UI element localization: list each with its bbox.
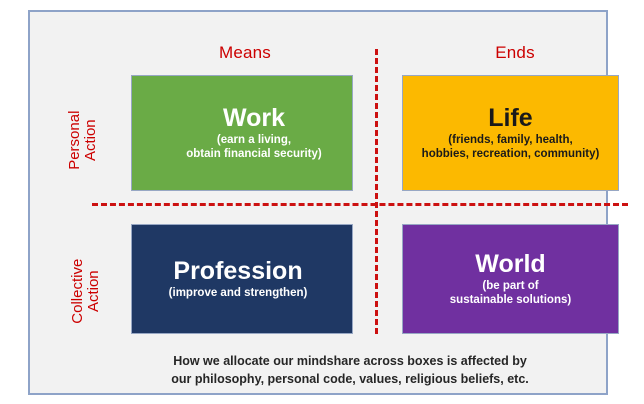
quadrant-profession-title: Profession [173,258,302,284]
row-header-personal-action: Personal Action [67,80,99,200]
horizontal-divider-line [92,203,628,206]
row-header-collective-action: Collective Action [70,226,102,356]
row-header-personal-action-line1: Personal [67,80,83,200]
quadrant-profession-subtitle-line1: (improve and strengthen) [169,286,308,300]
diagram-canvas: Means Ends Personal Action Collective Ac… [0,0,644,404]
column-header-means: Means [180,43,310,63]
quadrant-box-profession[interactable]: Profession (improve and strengthen) [131,224,353,334]
quadrant-work-title: Work [223,105,285,131]
quadrant-work-content: Work (earn a living, obtain financial se… [186,105,321,160]
diagram-frame: Means Ends Personal Action Collective Ac… [28,10,608,395]
quadrant-life-subtitle-line1: (friends, family, health, [448,133,572,147]
quadrant-box-work[interactable]: Work (earn a living, obtain financial se… [131,75,353,191]
quadrant-profession-content: Profession (improve and strengthen) [169,258,308,299]
row-header-collective-action-line1: Collective [70,226,86,356]
quadrant-world-content: World (be part of sustainable solutions) [450,251,571,306]
vertical-divider-line [375,49,378,334]
quadrant-work-subtitle-line1: (earn a living, [217,133,291,147]
quadrant-life-content: Life (friends, family, health, hobbies, … [422,105,600,160]
diagram-footnote-line2: our philosophy, personal code, values, r… [70,370,630,388]
quadrant-work-subtitle-line2: obtain financial security) [186,147,321,161]
row-header-personal-action-line2: Action [83,80,99,200]
quadrant-life-title: Life [488,105,532,131]
quadrant-life-subtitle-line2: hobbies, recreation, community) [422,147,600,161]
row-header-collective-action-line2: Action [86,226,102,356]
diagram-footnote: How we allocate our mindshare across box… [70,352,630,388]
quadrant-box-life[interactable]: Life (friends, family, health, hobbies, … [402,75,619,191]
quadrant-world-subtitle-line1: (be part of [482,279,538,293]
column-header-ends: Ends [450,43,580,63]
quadrant-box-world[interactable]: World (be part of sustainable solutions) [402,224,619,334]
quadrant-world-title: World [475,251,545,277]
diagram-footnote-line1: How we allocate our mindshare across box… [70,352,630,370]
quadrant-world-subtitle-line2: sustainable solutions) [450,293,571,307]
